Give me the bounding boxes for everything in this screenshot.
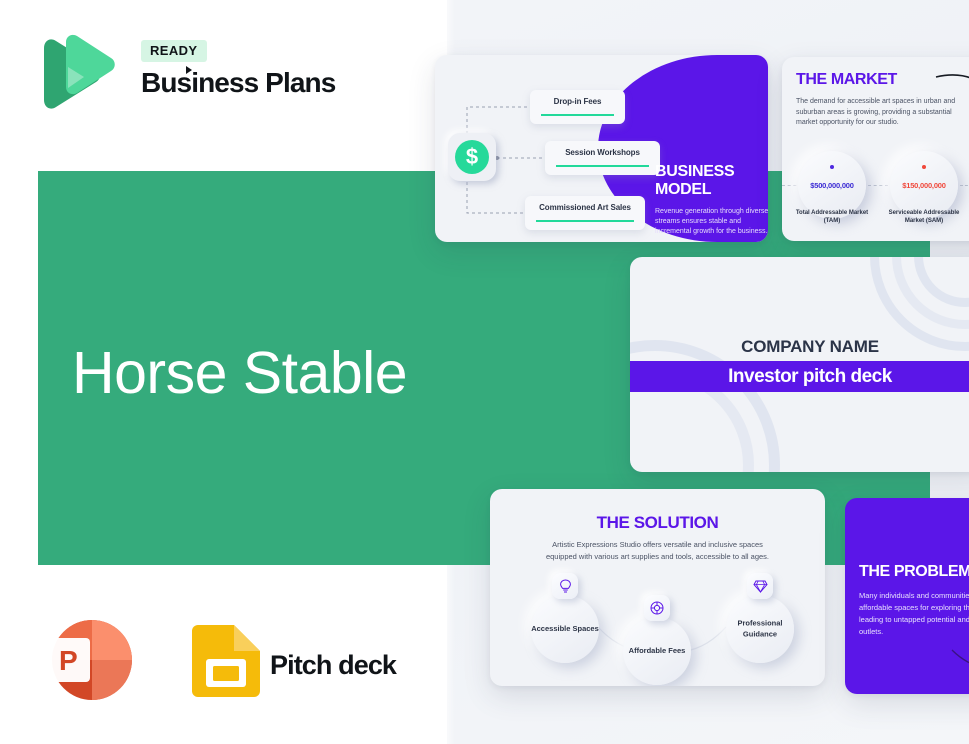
market-value: $500,000,000 — [798, 181, 866, 190]
slide-the-solution[interactable]: THE SOLUTION Artistic Expressions Studio… — [490, 489, 825, 686]
revenue-card-label: Session Workshops — [545, 148, 660, 157]
curved-arrow-icon — [934, 71, 969, 111]
slide-company-name[interactable]: COMPANY NAME Investor pitch deck — [630, 257, 969, 472]
brand-text: READY Business Plans — [141, 40, 335, 99]
lightbulb-icon — [552, 573, 578, 599]
slide-the-market[interactable]: THE MARKET The demand for accessible art… — [782, 57, 969, 241]
google-slides-icon — [192, 625, 260, 697]
solution-node-label: Accessible Spaces — [531, 624, 599, 635]
revenue-card-underline — [556, 165, 649, 167]
brand-name: Business Plans — [141, 67, 335, 99]
company-subtitle: Investor pitch deck — [630, 361, 969, 392]
powerpoint-icon: P — [40, 616, 132, 704]
slide-business-model[interactable]: $ Drop-in Fees Session Workshops Commiss… — [435, 55, 768, 242]
brand-name-text: Business Plans — [141, 67, 335, 98]
diamond-icon — [747, 573, 773, 599]
market-value: $150,000,000 — [890, 181, 958, 190]
market-dot-icon — [922, 165, 926, 169]
revenue-card-label: Drop-in Fees — [530, 97, 625, 106]
revenue-card-commissioned-art-sales[interactable]: Commissioned Art Sales — [525, 196, 645, 230]
revenue-card-session-workshops[interactable]: Session Workshops — [545, 141, 660, 175]
business-model-title: BUSINESS MODEL — [655, 163, 768, 199]
solution-node-label: Affordable Fees — [623, 646, 691, 657]
circle-target-icon — [644, 595, 670, 621]
revenue-card-label: Commissioned Art Sales — [525, 203, 645, 212]
slide-the-problem[interactable]: THE PROBLEM Many individuals and communi… — [845, 498, 969, 694]
market-dash-right — [960, 185, 969, 186]
brand-lockup: READY Business Plans — [38, 32, 418, 124]
market-dot-icon — [830, 165, 834, 169]
revenue-card-underline — [536, 220, 634, 222]
play-dot-icon — [186, 66, 192, 74]
company-subtitle-band: Investor pitch deck — [630, 361, 969, 392]
dollar-icon: $ — [455, 140, 489, 174]
market-caption: Total Addressable Market (TAM) — [787, 209, 877, 225]
market-caption: Serviceable Addressable Market (SAM) — [879, 209, 969, 225]
page-title: Horse Stable — [72, 344, 407, 403]
market-dash-mid — [868, 185, 888, 186]
solution-node-accessible-spaces: Accessible Spaces — [531, 595, 599, 663]
solution-node-label: Professional Guidance — [726, 619, 794, 640]
company-name: COMPANY NAME — [630, 337, 969, 357]
solution-node-professional-guidance: Professional Guidance — [726, 595, 794, 663]
revenue-card-underline — [541, 114, 614, 116]
ready-badge: READY — [141, 40, 207, 62]
problem-body: Many individuals and communities lack ac… — [859, 590, 969, 638]
play-triangle-logo-icon — [38, 34, 116, 114]
problem-curve-decoration — [950, 648, 969, 688]
business-model-body: Revenue generation through diverse strea… — [655, 207, 768, 237]
svg-text:P: P — [59, 645, 78, 676]
revenue-card-drop-in-fees[interactable]: Drop-in Fees — [530, 90, 625, 124]
solution-node-affordable-fees: Affordable Fees — [623, 617, 691, 685]
market-body: The demand for accessible art spaces in … — [796, 97, 956, 129]
format-label: Pitch deck — [270, 650, 396, 681]
market-title: THE MARKET — [796, 71, 897, 89]
solution-title: THE SOLUTION — [490, 513, 825, 533]
problem-title: THE PROBLEM — [859, 563, 969, 581]
business-model-icon-tile: $ — [448, 133, 496, 181]
solution-body: Artistic Expressions Studio offers versa… — [538, 539, 777, 562]
